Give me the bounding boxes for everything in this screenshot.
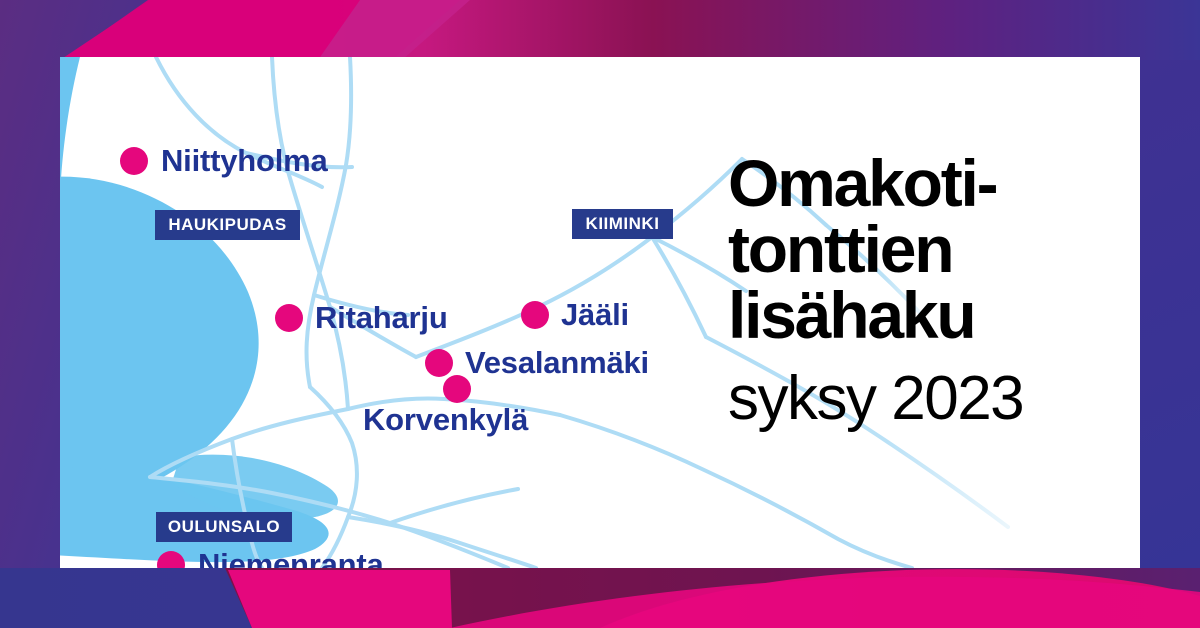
location-pin-icon bbox=[120, 147, 148, 175]
map-marker-label: Jääli bbox=[561, 297, 629, 333]
headline-line-3: lisähaku bbox=[728, 282, 1128, 348]
district-badge-oulunsalo[interactable]: OULUNSALO bbox=[156, 512, 292, 542]
location-pin-icon bbox=[521, 301, 549, 329]
poster-canvas: HAUKIPUDAS KIIMINKI OULUNSALO Niittyholm… bbox=[0, 0, 1200, 628]
location-pin-icon bbox=[425, 349, 453, 377]
map-panel: HAUKIPUDAS KIIMINKI OULUNSALO Niittyholm… bbox=[60, 57, 1140, 568]
district-badge-haukipudas[interactable]: HAUKIPUDAS bbox=[155, 210, 300, 240]
map-marker-niittyholma[interactable]: Niittyholma bbox=[120, 143, 328, 179]
map-marker-label: Vesalanmäki bbox=[465, 345, 649, 381]
district-badge-kiiminki[interactable]: KIIMINKI bbox=[572, 209, 673, 239]
location-pin-icon bbox=[157, 551, 185, 568]
map-marker-label: Ritaharju bbox=[315, 300, 448, 336]
district-badge-label: KIIMINKI bbox=[586, 214, 660, 234]
headline-line-1: Omakoti- bbox=[728, 150, 1128, 216]
map-marker-label: Niemenranta bbox=[198, 547, 384, 568]
map-marker-label: Niittyholma bbox=[161, 143, 328, 179]
headline-subline: syksy 2023 bbox=[728, 368, 1128, 430]
map-marker-niemenranta[interactable]: Niemenranta bbox=[157, 547, 384, 568]
district-badge-label: OULUNSALO bbox=[168, 517, 280, 537]
location-pin-icon bbox=[443, 375, 471, 403]
location-pin-icon bbox=[275, 304, 303, 332]
map-marker-jaali[interactable]: Jääli bbox=[521, 297, 629, 333]
map-marker-korvenkyla-dot[interactable] bbox=[443, 375, 471, 403]
map-marker-label: Korvenkylä bbox=[363, 402, 528, 438]
district-badge-label: HAUKIPUDAS bbox=[168, 215, 286, 235]
map-marker-ritaharju[interactable]: Ritaharju bbox=[275, 300, 448, 336]
headline-block: Omakoti- tonttien lisähaku syksy 2023 bbox=[728, 150, 1128, 430]
headline-line-2: tonttien bbox=[728, 216, 1128, 282]
map-marker-korvenkyla[interactable]: Korvenkylä bbox=[363, 402, 528, 438]
